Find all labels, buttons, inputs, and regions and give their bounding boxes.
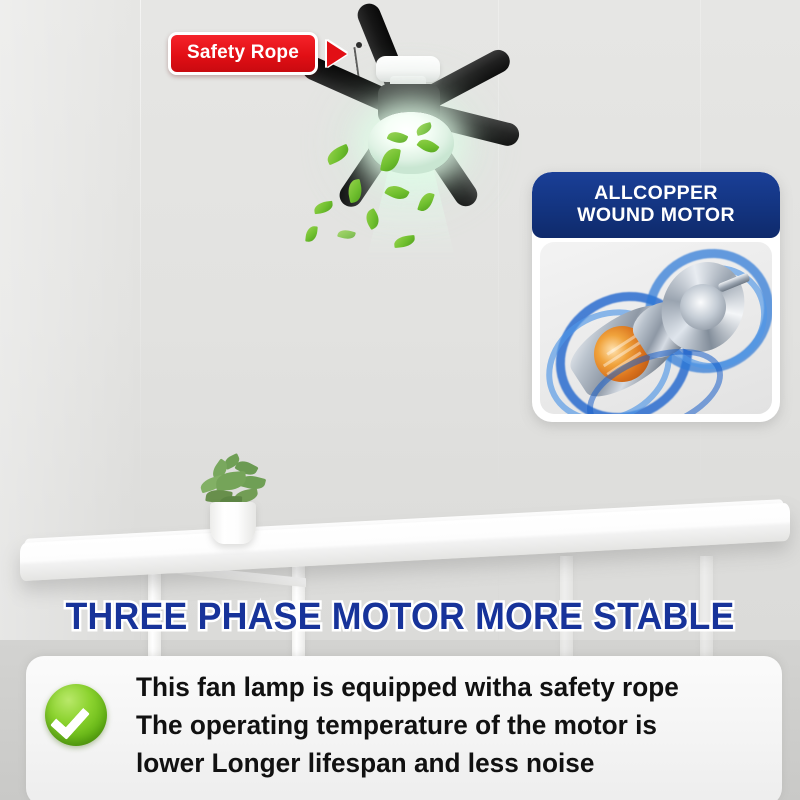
feature-line-2: The operating temperature of the motor i… (136, 706, 757, 744)
potted-plant (186, 452, 278, 544)
safety-rope-label: Safety Rope (168, 32, 318, 75)
leaf (324, 144, 351, 166)
leaf (305, 225, 318, 242)
safety-rope-callout[interactable]: Safety Rope (168, 32, 347, 75)
check-circle-icon (45, 684, 107, 746)
motor-illustration (540, 242, 772, 414)
page-headline: THREE PHASE MOTOR MORE STABLE (24, 596, 776, 639)
motor-title-line2: WOUND MOTOR (577, 205, 735, 227)
feature-line-3: lower Longer lifespan and less noise (136, 744, 757, 782)
feature-line-1: This fan lamp is equipped witha safety r… (136, 668, 757, 706)
safety-rope-tip (356, 42, 362, 48)
leaf (313, 201, 333, 215)
allcopper-motor-card[interactable]: ALLCOPPER WOUND MOTOR (532, 172, 780, 422)
motor-title-line1: ALLCOPPER (594, 183, 718, 205)
feature-text-block: This fan lamp is equipped witha safety r… (136, 668, 757, 782)
leaf (337, 228, 356, 241)
product-marketing-image: Safety Rope ALLCOPPER WOUND MOTOR THREE … (0, 0, 800, 800)
triangle-right-icon (327, 41, 347, 67)
motor-card-header: ALLCOPPER WOUND MOTOR (532, 172, 780, 238)
plant-pot (210, 502, 256, 544)
